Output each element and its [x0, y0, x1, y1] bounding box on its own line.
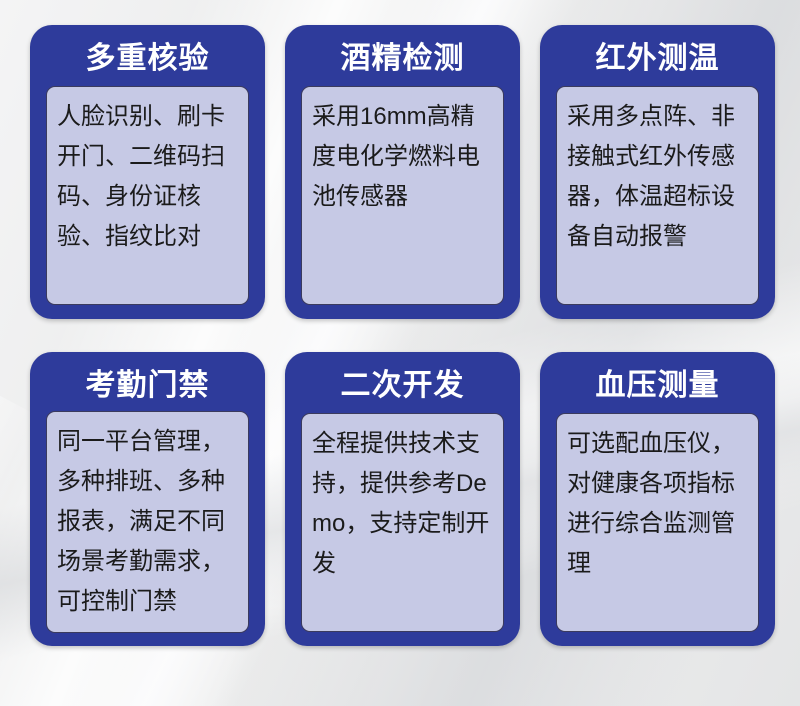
card-body-panel: 采用16mm高精度电化学燃料电池传感器	[301, 86, 504, 305]
feature-card: 酒精检测 采用16mm高精度电化学燃料电池传感器	[285, 25, 520, 319]
card-title: 考勤门禁	[86, 361, 210, 411]
card-description: 同一平台管理，多种排班、多种报表，满足不同场景考勤需求，可控制门禁	[57, 422, 239, 622]
card-body-panel: 同一平台管理，多种排班、多种报表，满足不同场景考勤需求，可控制门禁	[46, 411, 249, 633]
feature-card: 血压测量 可选配血压仪，对健康各项指标进行综合监测管理	[540, 352, 775, 646]
card-description: 采用多点阵、非接触式红外传感器，体温超标设备自动报警	[567, 97, 749, 257]
card-body-panel: 可选配血压仪，对健康各项指标进行综合监测管理	[556, 413, 759, 632]
feature-card-grid: 多重核验 人脸识别、刷卡开门、二维码扫码、身份证核验、指纹比对 酒精检测 采用1…	[30, 25, 775, 646]
card-description: 人脸识别、刷卡开门、二维码扫码、身份证核验、指纹比对	[57, 97, 239, 257]
card-title: 血压测量	[596, 361, 720, 413]
card-body-panel: 全程提供技术支持，提供参考Demo，支持定制开发	[301, 413, 504, 632]
feature-card: 红外测温 采用多点阵、非接触式红外传感器，体温超标设备自动报警	[540, 25, 775, 319]
card-body-panel: 人脸识别、刷卡开门、二维码扫码、身份证核验、指纹比对	[46, 86, 249, 305]
card-description: 全程提供技术支持，提供参考Demo，支持定制开发	[312, 424, 494, 584]
card-description: 可选配血压仪，对健康各项指标进行综合监测管理	[567, 424, 749, 584]
card-title: 红外测温	[596, 34, 720, 86]
feature-card: 二次开发 全程提供技术支持，提供参考Demo，支持定制开发	[285, 352, 520, 646]
feature-card: 多重核验 人脸识别、刷卡开门、二维码扫码、身份证核验、指纹比对	[30, 25, 265, 319]
card-description: 采用16mm高精度电化学燃料电池传感器	[312, 97, 494, 217]
card-title: 多重核验	[86, 34, 210, 86]
feature-card: 考勤门禁 同一平台管理，多种排班、多种报表，满足不同场景考勤需求，可控制门禁	[30, 352, 265, 646]
card-body-panel: 采用多点阵、非接触式红外传感器，体温超标设备自动报警	[556, 86, 759, 305]
card-title: 酒精检测	[341, 34, 465, 86]
feature-grid-graphic: 多重核验 人脸识别、刷卡开门、二维码扫码、身份证核验、指纹比对 酒精检测 采用1…	[0, 0, 800, 706]
card-title: 二次开发	[341, 361, 465, 413]
